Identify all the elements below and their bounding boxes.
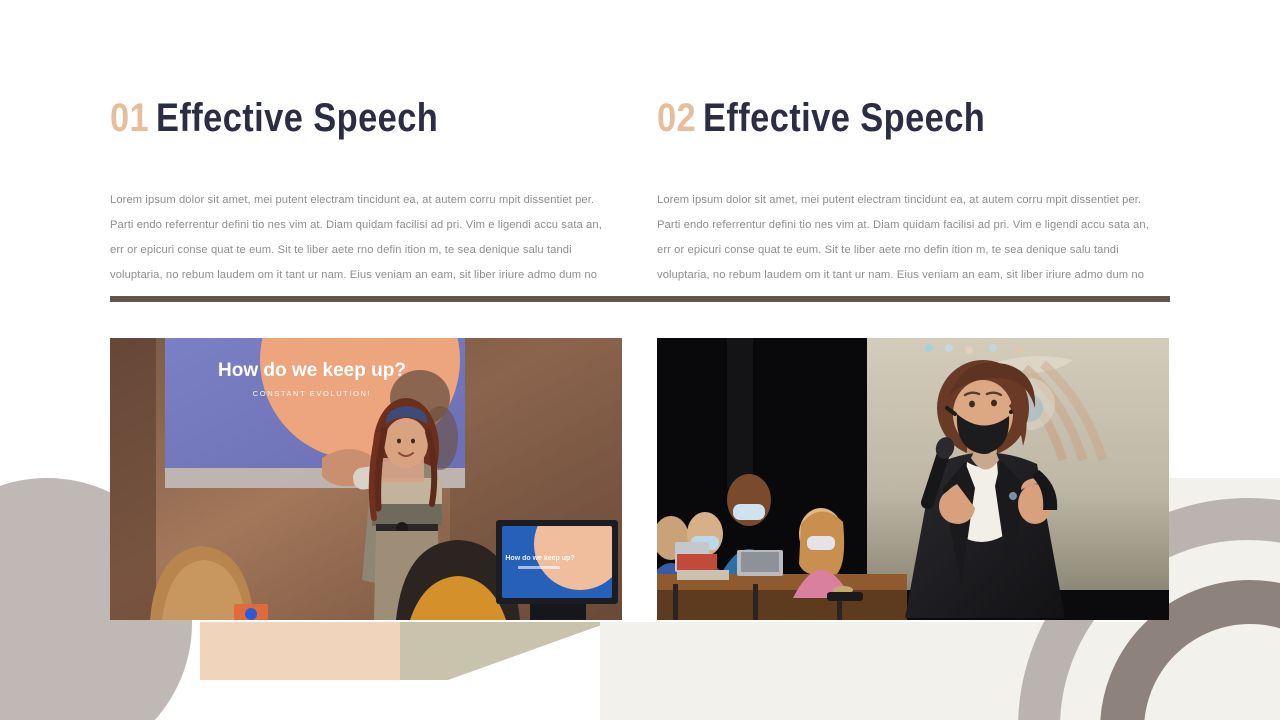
body-text-two: Lorem ipsum dolor sit amet, mei putent e… bbox=[657, 188, 1157, 287]
presentation-slide: 01Effective Speech Lorem ipsum dolor sit… bbox=[0, 0, 1280, 720]
svg-text:How do we keep up?: How do we keep up? bbox=[218, 360, 406, 381]
svg-text:CONSTANT EVOLUTION!: CONSTANT EVOLUTION! bbox=[253, 389, 371, 398]
heading-two: 02Effective Speech bbox=[657, 96, 1097, 140]
heading-one: 01Effective Speech bbox=[110, 96, 550, 140]
body-text-one: Lorem ipsum dolor sit amet, mei putent e… bbox=[110, 188, 610, 287]
slide-content: 01Effective Speech Lorem ipsum dolor sit… bbox=[0, 0, 1280, 720]
column-one: 01Effective Speech Lorem ipsum dolor sit… bbox=[110, 96, 622, 140]
speaker-with-microphone-photo bbox=[657, 338, 1169, 620]
speaker-with-projection-photo: How do we keep up? CONSTANT EVOLUTION! bbox=[110, 338, 622, 620]
column-two: 02Effective Speech Lorem ipsum dolor sit… bbox=[657, 96, 1169, 140]
heading-number-two: 02 bbox=[657, 96, 696, 140]
heading-title-two: Effective Speech bbox=[703, 96, 985, 140]
heading-title-one: Effective Speech bbox=[156, 96, 438, 140]
horizontal-divider bbox=[110, 296, 1170, 302]
svg-text:How do we keep up?: How do we keep up? bbox=[505, 555, 574, 562]
heading-number-one: 01 bbox=[110, 96, 149, 140]
